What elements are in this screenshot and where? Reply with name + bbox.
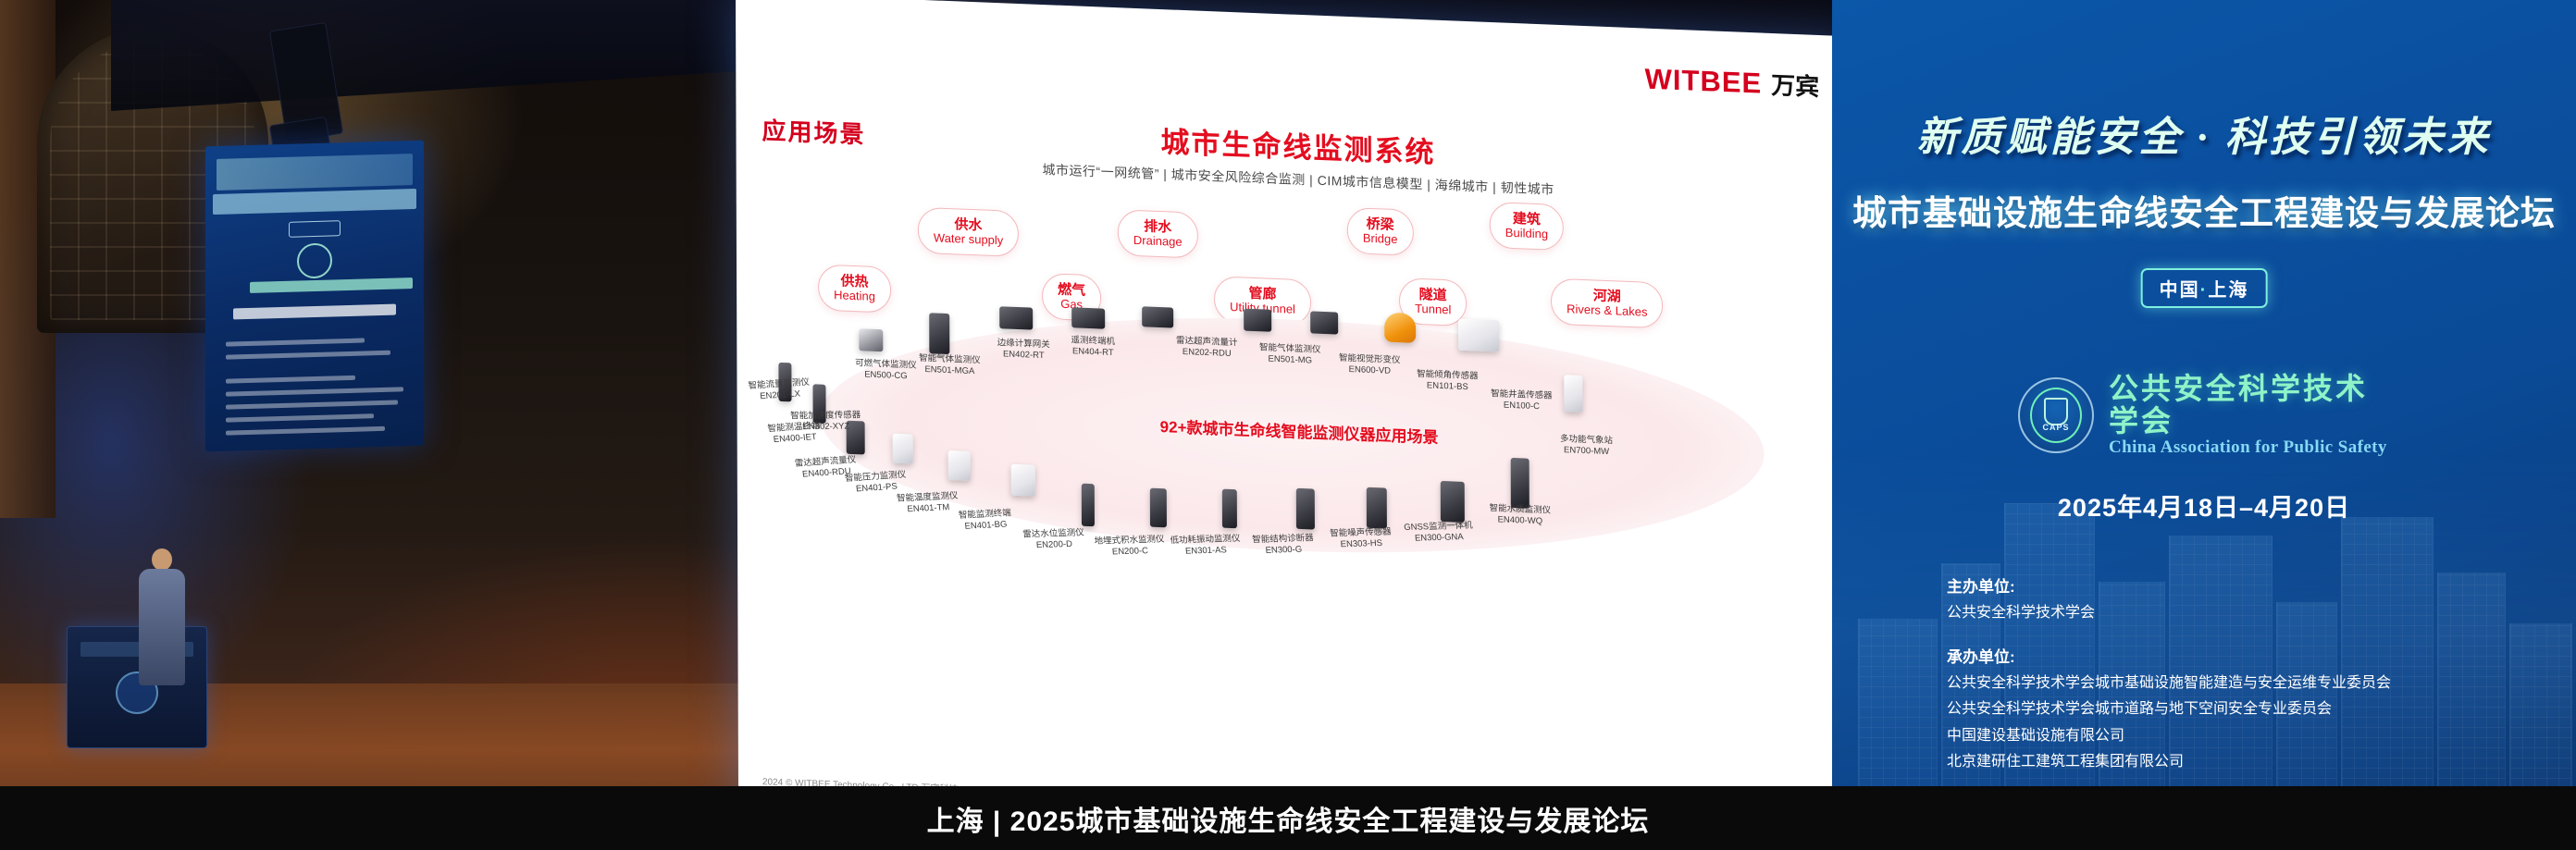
device-label: 智能气体监测仪EN501-MG	[1251, 342, 1329, 367]
side-panel-location-badge	[289, 220, 341, 238]
location-country: 中国	[2160, 280, 2200, 301]
host-item: 公共安全科学技术学会	[1947, 602, 2557, 623]
side-panel-text-line	[226, 387, 403, 396]
spacer	[1947, 628, 2557, 644]
device-label: 智能噪声传感器EN303-HS	[1321, 526, 1401, 550]
host-label: 主办单位:	[1947, 573, 2557, 597]
witbee-logo-latin: WITBEE	[1645, 63, 1763, 101]
caps-shield-icon	[2044, 398, 2068, 425]
organizer-block: 主办单位: 公共安全科学技术学会 承办单位: 公共安全科学技术学会城市基础设施智…	[1947, 573, 2557, 777]
presenter-figure	[137, 548, 185, 685]
side-panel-date	[233, 304, 396, 320]
association-text: 公共安全科学技术学会 China Association for Public …	[2109, 373, 2390, 458]
device-label: 智能视觉形变仪EN600-VD	[1331, 352, 1408, 377]
device-label: 雷达水位监测仪EN200-D	[1014, 527, 1094, 551]
device-label: 智能温度监测仪EN401-TM	[890, 490, 966, 516]
screenshot-root: WITBEE 万宾 应用场景 城市生命线监测系统 城市运行“一网统管” | 城市…	[0, 0, 2576, 850]
category-en: Building	[1505, 227, 1548, 242]
category-en: Tunnel	[1415, 302, 1451, 317]
category-en: Bridge	[1363, 232, 1398, 247]
presenter-head	[152, 548, 172, 571]
side-panel-text-line	[226, 376, 355, 384]
organizer-item: 公共安全科学技术学会城市基础设施智能建造与安全运维专业委员会	[1947, 672, 2557, 694]
side-panel-text-line	[226, 400, 398, 409]
caps-emblem-icon: CAPS	[2018, 377, 2094, 453]
device-image	[1310, 311, 1338, 334]
device-image	[1296, 488, 1315, 530]
witbee-logo-cn: 万宾	[1771, 67, 1819, 103]
backdrop-forum-title: 城市基础设施生命线安全工程建设与发展论坛	[1832, 185, 2576, 235]
category-en: Heating	[834, 289, 875, 304]
device-image	[1441, 481, 1465, 523]
witbee-logo: WITBEE 万宾	[1645, 62, 1820, 103]
category-node-building: 建筑 Building	[1490, 202, 1564, 251]
backdrop-calligraphy: 新质赋能安全 · 科技引领未来	[1832, 104, 2576, 163]
device-image	[1082, 484, 1095, 527]
device-label: 遥测终端机EN404-RT	[1060, 335, 1125, 360]
device-image	[1458, 319, 1499, 352]
category-node-heating: 供热 Heating	[818, 264, 891, 313]
category-node-drainage: 排水 Drainage	[1118, 209, 1198, 259]
device-label: 智能倾角传感器EN101-BS	[1406, 369, 1488, 394]
device-label: GNSS监测一体机EN300-GNA	[1399, 521, 1479, 545]
device-image	[1564, 375, 1582, 413]
location-city: 上海	[2208, 280, 2248, 301]
forum-backdrop: 新质赋能安全 · 科技引领未来 城市基础设施生命线安全工程建设与发展论坛 中国·…	[1832, 0, 2576, 850]
organizer-label: 承办单位:	[1947, 644, 2557, 667]
device-image	[948, 450, 971, 481]
side-panel-emblem-icon	[297, 242, 332, 278]
device-image	[1384, 313, 1416, 343]
association-block: CAPS 公共安全科学技术学会 China Association for Pu…	[2018, 373, 2390, 458]
association-name-cn: 公共安全科学技术学会	[2109, 373, 2390, 437]
device-image	[1150, 488, 1167, 528]
organizer-item: 中国建设基础设施有限公司	[1947, 725, 2557, 746]
side-panel-association	[250, 277, 413, 293]
location-dot: ·	[2200, 280, 2209, 301]
device-label: 低功耗振动监测仪EN301-AS	[1164, 534, 1247, 558]
side-panel-title	[213, 189, 416, 215]
side-panel-text-line	[226, 351, 390, 360]
category-en: Water supply	[934, 232, 1003, 249]
ceiling-truss	[111, 0, 777, 111]
organizer-item: 公共安全科学技术学会城市道路与地下空间安全专业委员会	[1947, 698, 2557, 720]
caption-text: 上海 | 2025城市基础设施生命线安全工程建设与发展论坛	[927, 798, 1650, 839]
device-image	[1511, 458, 1529, 509]
device-image	[1367, 487, 1387, 529]
caps-emblem-text: CAPS	[2020, 423, 2092, 432]
device-image	[1142, 306, 1173, 327]
device-label: 智能测温终端EN400-IET	[759, 420, 831, 447]
device-image	[893, 434, 913, 464]
event-date: 2025年4月18日–4月20日	[1832, 487, 2576, 524]
device-image	[1244, 309, 1271, 332]
organizer-item: 北京建研住工建筑工程集团有限公司	[1947, 751, 2557, 772]
side-panel-text-line	[226, 426, 385, 436]
category-en: Rivers & Lakes	[1567, 303, 1647, 320]
device-label: 智能气体监测仪EN501-MGA	[909, 352, 990, 377]
side-led-panel	[205, 141, 424, 452]
device-image	[929, 313, 949, 354]
device-image	[1011, 464, 1035, 497]
device-label: 智能流量监测仪EN201-LX	[743, 376, 815, 403]
device-image	[1071, 307, 1105, 328]
device-image	[859, 328, 883, 351]
caption-bar: 上海 | 2025城市基础设施生命线安全工程建设与发展论坛	[0, 786, 2576, 850]
device-label: 多功能气象站EN700-MW	[1548, 433, 1626, 458]
device-label: 智能井盖传感器EN100-C	[1480, 388, 1562, 413]
category-node-bridge: 桥梁 Bridge	[1347, 207, 1414, 256]
side-panel-calligraphy	[217, 154, 413, 191]
location-badge: 中国·上海	[2141, 268, 2268, 308]
projected-slide: WITBEE 万宾 应用场景 城市生命线监测系统 城市运行“一网统管” | 城市…	[736, 0, 1863, 850]
device-image	[999, 306, 1033, 329]
presenter-body	[139, 569, 185, 685]
category-node-rivers-lakes: 河湖 Rivers & Lakes	[1551, 278, 1664, 329]
side-panel-text-line	[226, 413, 374, 422]
device-label: 地埋式积水监测仪EN200-C	[1088, 534, 1171, 558]
association-name-en: China Association for Public Safety	[2109, 437, 2390, 458]
device-image	[1222, 489, 1237, 529]
category-node-water-supply: 供水 Water supply	[918, 207, 1020, 257]
side-panel-text-line	[226, 338, 365, 346]
device-label: 边缘计算网关EN402-RT	[988, 338, 1059, 363]
device-label: 智能水质监测仪EN400-WQ	[1481, 503, 1559, 528]
category-en: Drainage	[1133, 234, 1183, 250]
device-label: 智能结构诊断器EN300-G	[1244, 533, 1323, 557]
device-label: 雷达超声流量计EN202-RDU	[1168, 335, 1245, 360]
